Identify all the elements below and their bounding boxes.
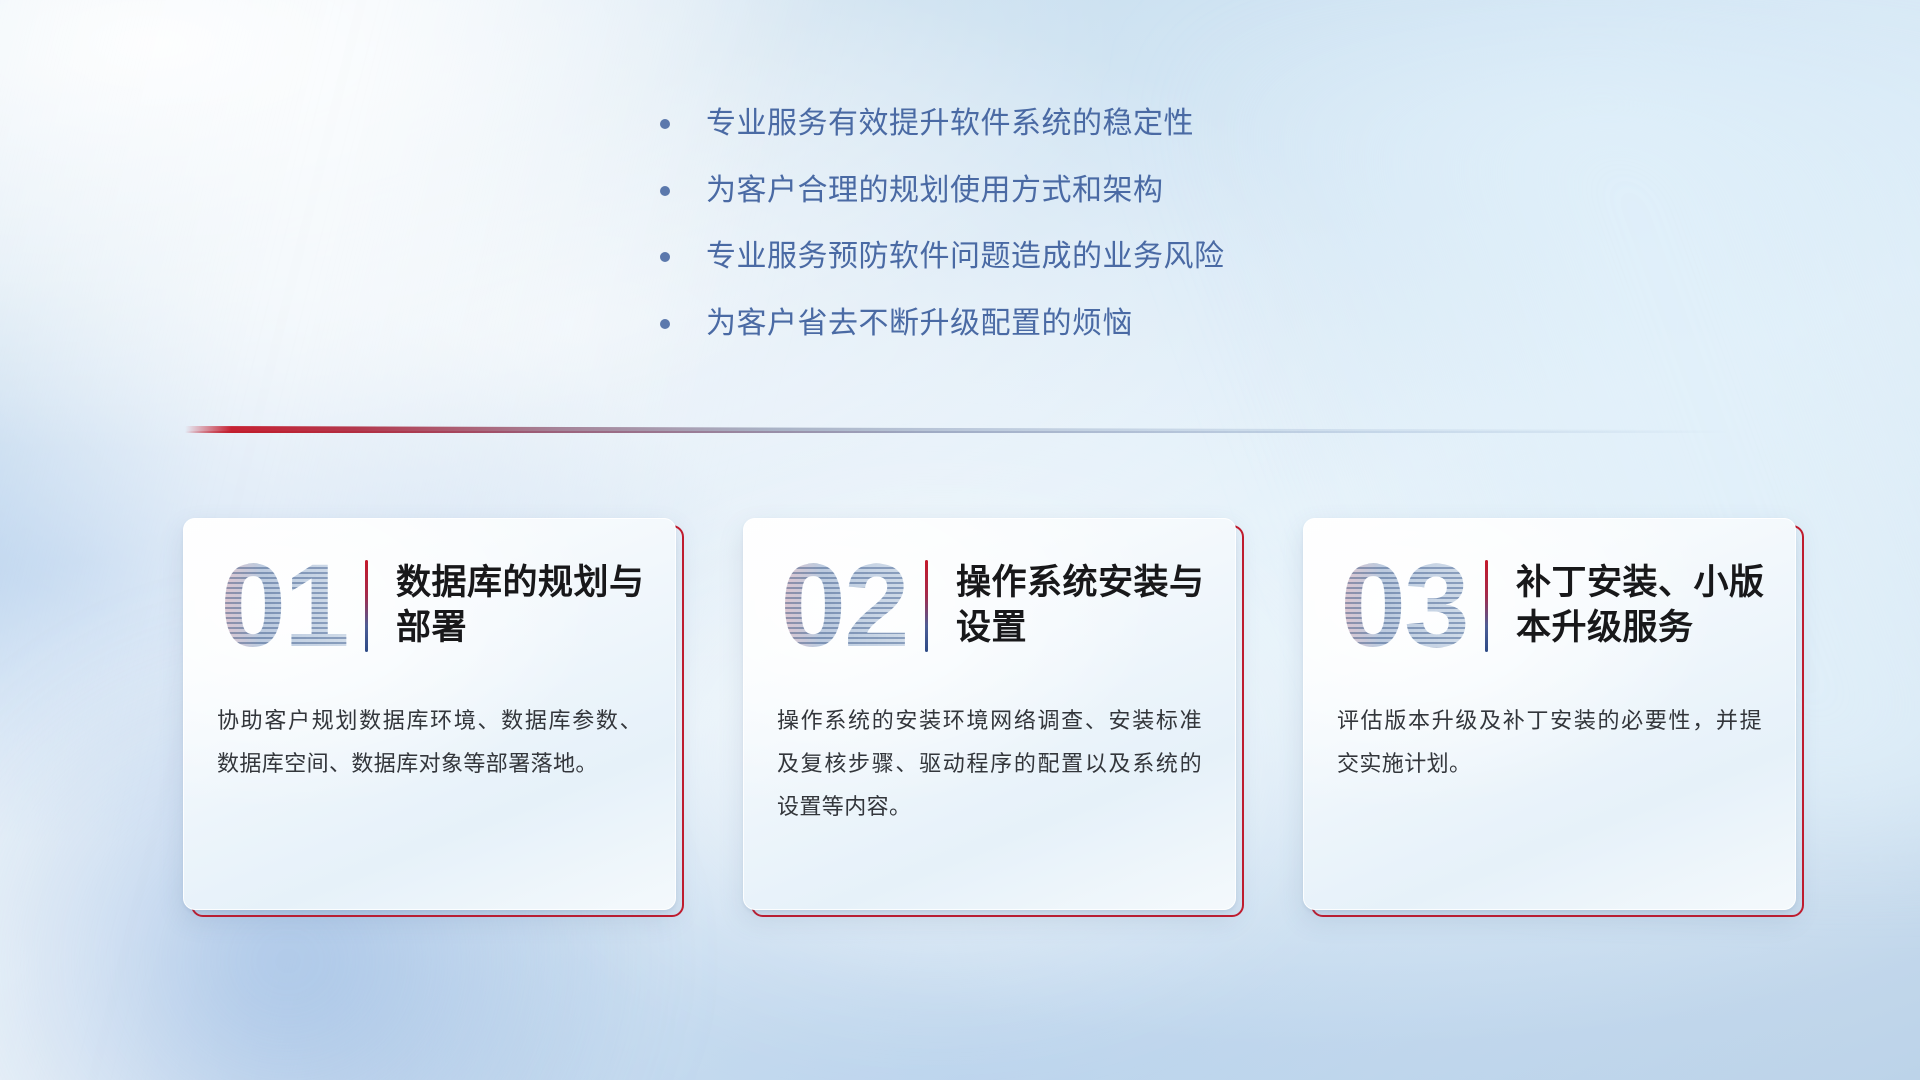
- card-description: 协助客户规划数据库环境、数据库参数、数据库空间、数据库对象等部署落地。: [183, 694, 676, 786]
- card-number-03: 03: [1329, 547, 1479, 665]
- service-card-01[interactable]: 01 数据库的规划与部署 协助客户规划数据库环境、数据库参数、数据库空间、数据库…: [183, 518, 676, 910]
- bullet-dot-icon: [660, 252, 670, 262]
- card-surface[interactable]: 03 补丁安装、小版本升级服务 评估版本升级及补丁安装的必要性，并提交实施计划。: [1303, 518, 1796, 910]
- bullet-text: 专业服务预防软件问题造成的业务风险: [706, 238, 1225, 276]
- slide-canvas: 专业服务有效提升软件系统的稳定性 为客户合理的规划使用方式和架构 专业服务预防软…: [0, 0, 1920, 1080]
- card-title: 补丁安装、小版本升级服务: [1516, 561, 1766, 651]
- bullet-dot-icon: [660, 186, 670, 196]
- service-card-03[interactable]: 03 补丁安装、小版本升级服务 评估版本升级及补丁安装的必要性，并提交实施计划。: [1303, 518, 1796, 910]
- bullet-text: 为客户省去不断升级配置的烦恼: [706, 305, 1133, 343]
- bullet-dot-icon: [660, 319, 670, 329]
- card-description: 评估版本升级及补丁安装的必要性，并提交实施计划。: [1303, 694, 1796, 786]
- card-surface[interactable]: 02 操作系统安装与设置 操作系统的安装环境网络调查、安装标准及复核步骤、驱动程…: [743, 518, 1236, 910]
- card-accent-bar: [365, 560, 368, 652]
- card-number-01: 01: [209, 547, 359, 665]
- list-item: 为客户合理的规划使用方式和架构: [660, 172, 1420, 210]
- card-description: 操作系统的安装环境网络调查、安装标准及复核步骤、驱动程序的配置以及系统的设置等内…: [743, 694, 1236, 829]
- card-title: 数据库的规划与部署: [396, 561, 646, 651]
- list-item: 专业服务预防软件问题造成的业务风险: [660, 238, 1420, 276]
- divider-hairline: [185, 431, 1730, 433]
- service-card-list: 01 数据库的规划与部署 协助客户规划数据库环境、数据库参数、数据库空间、数据库…: [183, 518, 1796, 910]
- card-surface[interactable]: 01 数据库的规划与部署 协助客户规划数据库环境、数据库参数、数据库空间、数据库…: [183, 518, 676, 910]
- card-number-02: 02: [769, 547, 919, 665]
- list-item: 为客户省去不断升级配置的烦恼: [660, 305, 1420, 343]
- bullet-dot-icon: [660, 119, 670, 129]
- bullet-text: 为客户合理的规划使用方式和架构: [706, 172, 1164, 210]
- bullet-text: 专业服务有效提升软件系统的稳定性: [706, 105, 1194, 143]
- list-item: 专业服务有效提升软件系统的稳定性: [660, 105, 1420, 143]
- card-accent-bar: [1485, 560, 1488, 652]
- card-title: 操作系统安装与设置: [956, 561, 1206, 651]
- card-accent-bar: [925, 560, 928, 652]
- card-header: 01 数据库的规划与部署: [183, 518, 676, 694]
- card-header: 02 操作系统安装与设置: [743, 518, 1236, 694]
- service-card-02[interactable]: 02 操作系统安装与设置 操作系统的安装环境网络调查、安装标准及复核步骤、驱动程…: [743, 518, 1236, 910]
- section-divider: [185, 424, 1730, 438]
- benefit-bullet-list: 专业服务有效提升软件系统的稳定性 为客户合理的规划使用方式和架构 专业服务预防软…: [660, 105, 1420, 371]
- card-header: 03 补丁安装、小版本升级服务: [1303, 518, 1796, 694]
